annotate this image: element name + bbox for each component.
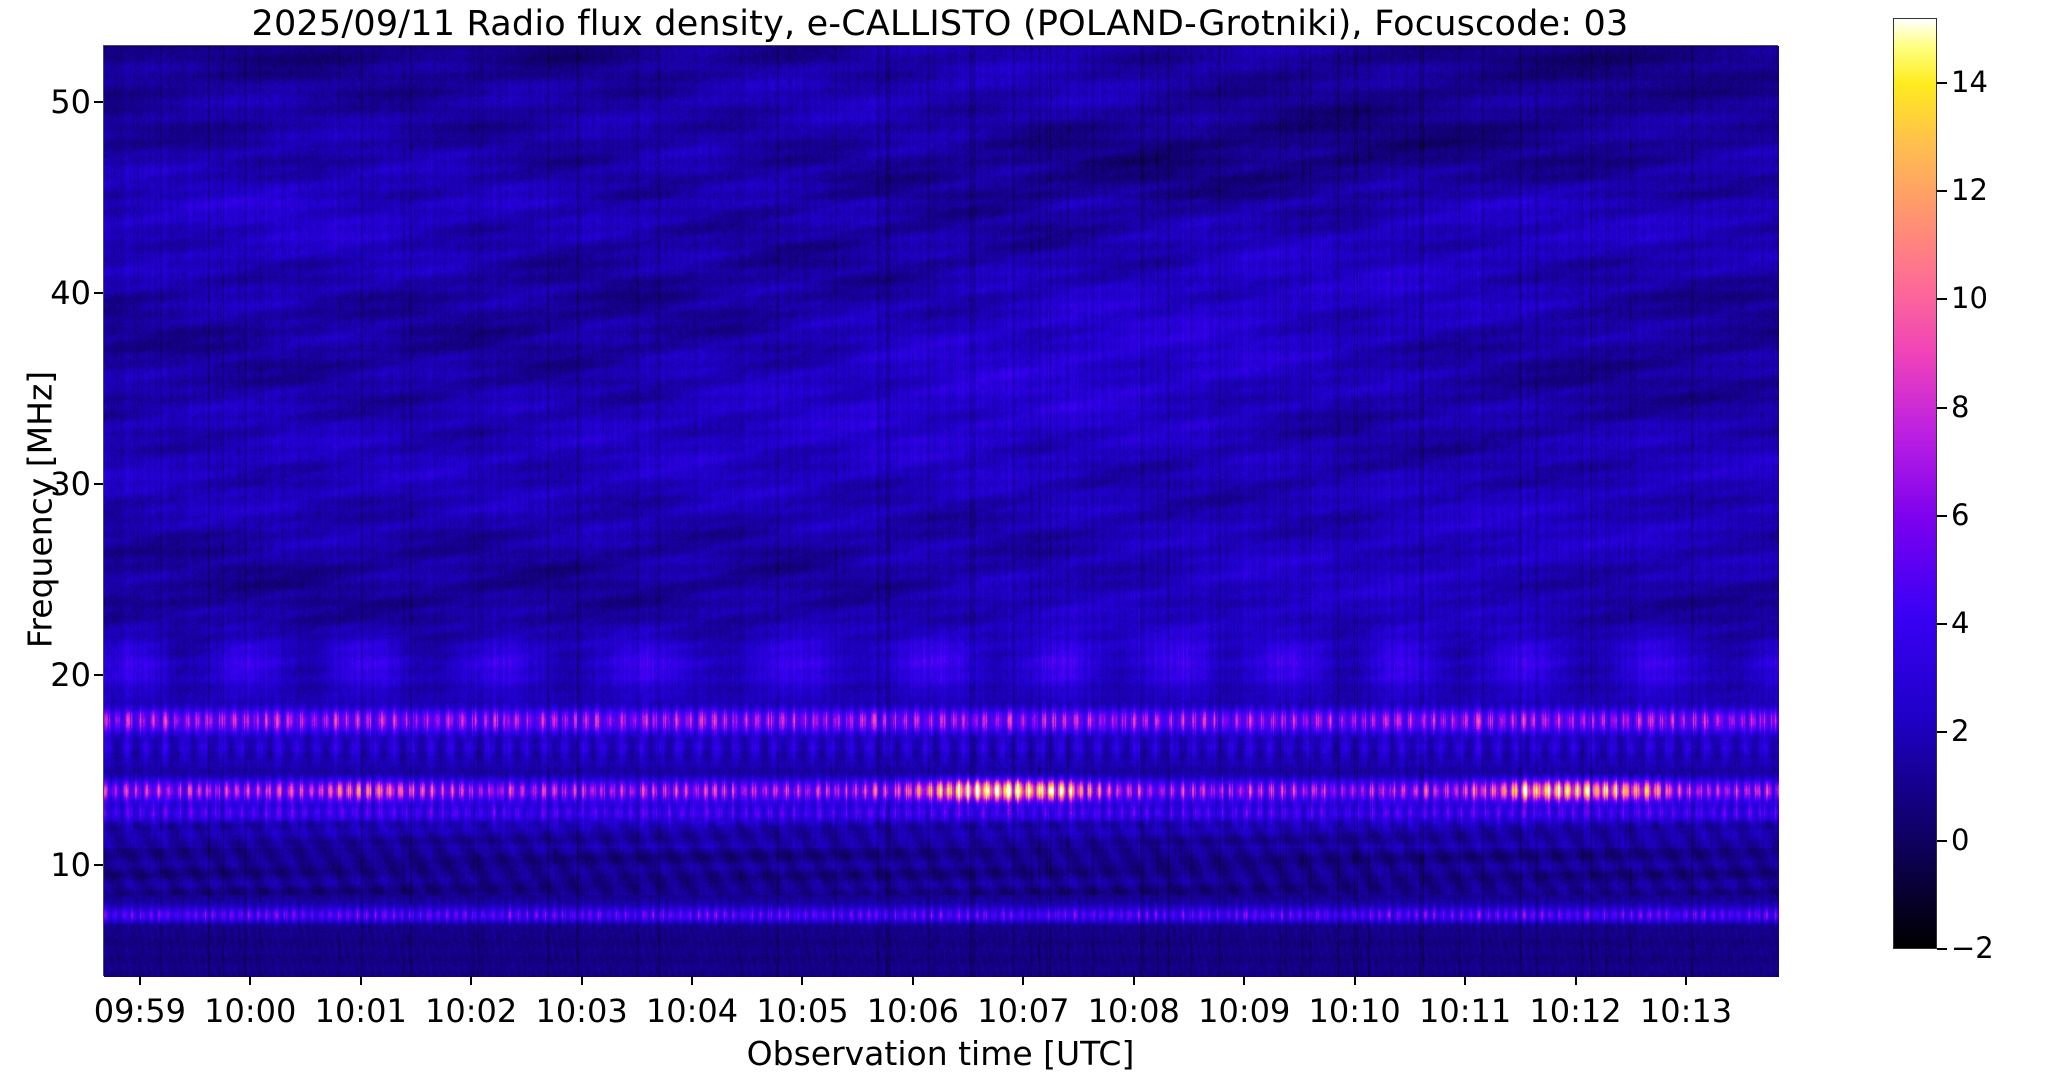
- x-tick-mark: [1133, 976, 1135, 985]
- x-tick-mark: [912, 976, 914, 985]
- colorbar-tick-mark: [1937, 515, 1947, 517]
- x-tick-mark: [1464, 976, 1466, 985]
- figure-title: 2025/09/11 Radio flux density, e-CALLIST…: [0, 4, 1880, 44]
- y-tick-label: 40: [17, 277, 103, 309]
- colorbar-tick-mark: [1937, 190, 1947, 192]
- colorbar-tick-mark: [1937, 82, 1947, 84]
- x-tick-mark: [360, 976, 362, 985]
- x-axis: Observation time [UTC] 09:5910:0010:0110…: [0, 976, 2047, 1068]
- x-tick-mark: [1685, 976, 1687, 985]
- x-tick-mark: [691, 976, 693, 985]
- x-tick-mark: [581, 976, 583, 985]
- colorbar-tick-label: −2: [1951, 934, 1994, 963]
- x-tick-mark: [1243, 976, 1245, 985]
- x-tick-mark: [801, 976, 803, 985]
- x-tick-mark: [1354, 976, 1356, 985]
- y-tick-label: 50: [17, 86, 103, 118]
- x-tick-mark: [470, 976, 472, 985]
- y-tick-mark: [94, 483, 103, 485]
- colorbar: [1893, 18, 1937, 949]
- colorbar-tick-label: 4: [1951, 609, 1969, 638]
- colorbar-tick-mark: [1937, 731, 1947, 733]
- x-tick-mark: [139, 976, 141, 985]
- colorbar-tick-label: 2: [1951, 717, 1969, 746]
- y-tick-label: 30: [17, 468, 103, 500]
- y-tick-mark: [94, 101, 103, 103]
- x-tick-mark: [1022, 976, 1024, 985]
- y-tick-label: 20: [17, 659, 103, 691]
- colorbar-tick-label: 0: [1951, 826, 1969, 855]
- y-tick-mark: [94, 864, 103, 866]
- colorbar-tick-label: 8: [1951, 393, 1969, 422]
- colorbar-gradient: [1894, 19, 1936, 948]
- colorbar-tick-mark: [1937, 407, 1947, 409]
- spectrogram-plot-area: [103, 45, 1778, 976]
- y-tick-mark: [94, 292, 103, 294]
- y-tick-mark: [94, 674, 103, 676]
- colorbar-tick-label: 12: [1951, 176, 1988, 205]
- colorbar-tick-mark: [1937, 623, 1947, 625]
- x-axis-label: Observation time [UTC]: [103, 1034, 1778, 1073]
- spectrogram-image: [104, 46, 1779, 977]
- x-tick-label: 10:13: [1586, 992, 1786, 1030]
- colorbar-tick-mark: [1937, 840, 1947, 842]
- y-axis-label: Frequency [MHz]: [21, 160, 60, 860]
- colorbar-tick-mark: [1937, 948, 1947, 950]
- colorbar-tick-label: 14: [1951, 68, 1988, 97]
- colorbar-tick-mark: [1937, 298, 1947, 300]
- y-tick-label: 10: [17, 849, 103, 881]
- x-tick-mark: [1575, 976, 1577, 985]
- spectrogram-figure: 2025/09/11 Radio flux density, e-CALLIST…: [0, 0, 2047, 1067]
- colorbar-tick-label: 6: [1951, 501, 1969, 530]
- colorbar-tick-label: 10: [1951, 284, 1988, 313]
- y-axis: Frequency [MHz] 1020304050: [0, 0, 103, 1067]
- x-tick-mark: [249, 976, 251, 985]
